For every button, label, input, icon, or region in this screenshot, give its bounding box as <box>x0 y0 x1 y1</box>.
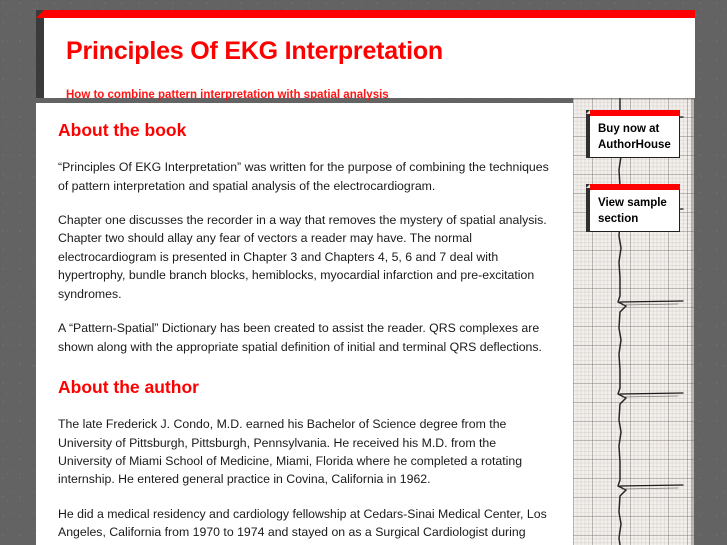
header-left-edge <box>36 18 44 98</box>
paragraph-author-1: The late Frederick J. Condo, M.D. earned… <box>58 415 551 489</box>
section-heading-about-the-book: About the book <box>58 121 551 140</box>
ekg-right-shadow <box>691 98 694 545</box>
site-tagline: How to combine pattern interpretation wi… <box>66 89 389 101</box>
paragraph-author-2: He did a medical residency and cardiolog… <box>58 505 551 545</box>
site-header: Principles Of EKG Interpretation How to … <box>36 10 695 98</box>
section-heading-about-the-author: About the author <box>58 378 551 397</box>
header-bevel-corner <box>36 10 44 18</box>
content-body: About the book “Principles Of EKG Interp… <box>36 103 573 545</box>
ekg-sidebar: Buy now at AuthorHouse View sample secti… <box>573 98 694 545</box>
view-sample-face[interactable]: View sample section <box>590 190 680 232</box>
site-title: Principles Of EKG Interpretation <box>66 37 443 66</box>
buy-now-face[interactable]: Buy now at AuthorHouse <box>590 116 680 158</box>
header-accent-bar <box>36 10 695 18</box>
page-root: Principles Of EKG Interpretation How to … <box>0 0 727 545</box>
view-sample-label: View sample section <box>590 190 679 233</box>
header-panel: Principles Of EKG Interpretation How to … <box>44 18 695 98</box>
paragraph-book-3: A “Pattern-Spatial” Dictionary has been … <box>58 319 551 356</box>
paragraph-book-1: “Principles Of EKG Interpretation” was w… <box>58 158 551 195</box>
main-content: About the book “Principles Of EKG Interp… <box>36 103 573 545</box>
paragraph-book-2: Chapter one discusses the recorder in a … <box>58 211 551 303</box>
buy-now-label: Buy now at AuthorHouse <box>590 116 679 159</box>
ekg-top-edge <box>573 98 694 100</box>
ekg-waveform-icon <box>573 98 694 545</box>
